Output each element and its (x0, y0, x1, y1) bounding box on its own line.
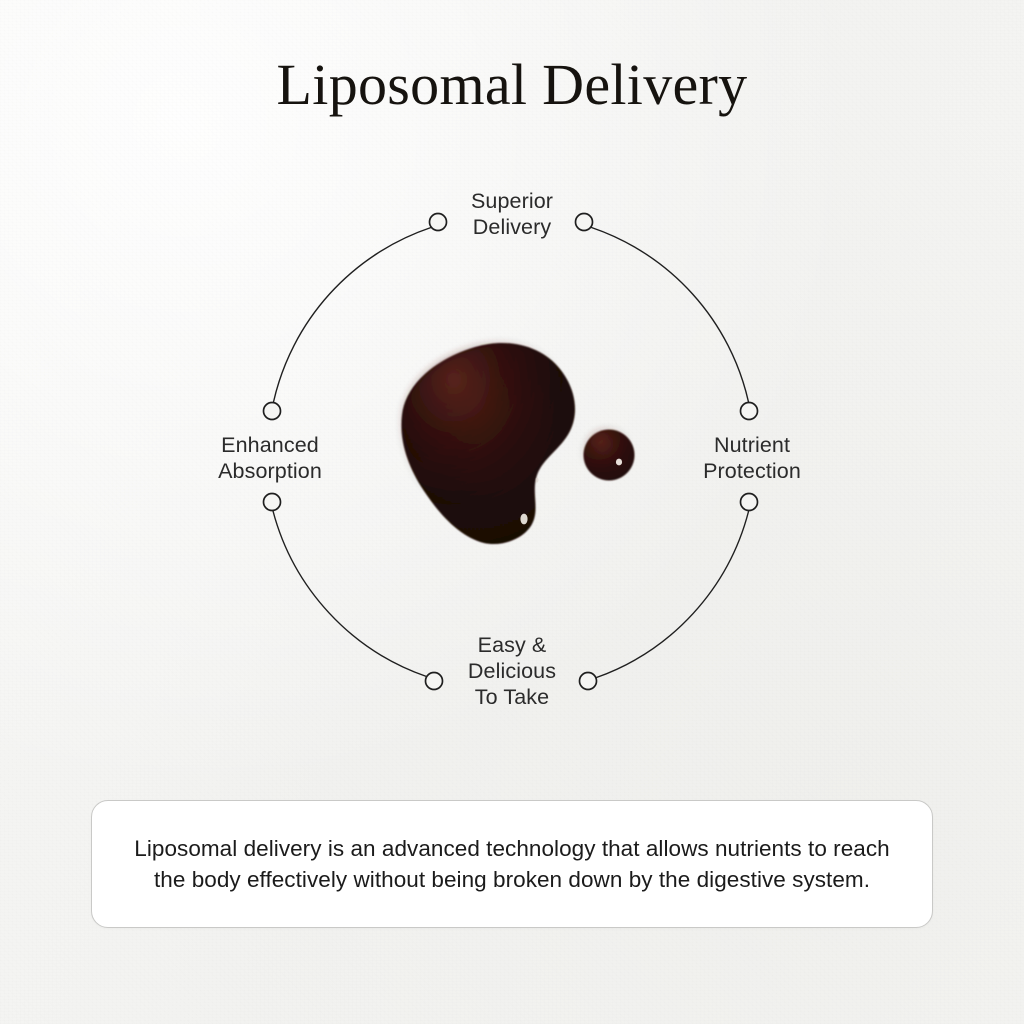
infographic-canvas: Liposomal Delivery (0, 0, 1024, 1024)
small-droplet-highlight (616, 459, 622, 466)
small-droplet-shape (584, 430, 635, 481)
node-marker-nutrient-bottom[interactable] (741, 494, 758, 511)
droplet-svg (380, 325, 650, 575)
node-label-nutrient-protection: Nutrient Protection (652, 432, 852, 484)
droplet-highlight-mid (536, 477, 539, 482)
caption-card: Liposomal delivery is an advanced techno… (91, 800, 933, 928)
node-label-superior-delivery: Superior Delivery (412, 188, 612, 240)
node-marker-nutrient-top[interactable] (741, 403, 758, 420)
liposomal-liquid-droplet (380, 325, 650, 575)
node-label-enhanced-absorption: Enhanced Absorption (170, 432, 370, 484)
node-label-easy-delicious-to-take: Easy & Delicious To Take (412, 632, 612, 710)
node-marker-enhanced-bottom[interactable] (264, 494, 281, 511)
droplet-highlight-lower (520, 514, 527, 525)
caption-text: Liposomal delivery is an advanced techno… (127, 833, 897, 895)
node-marker-enhanced-top[interactable] (264, 403, 281, 420)
main-droplet-shape (401, 343, 575, 544)
